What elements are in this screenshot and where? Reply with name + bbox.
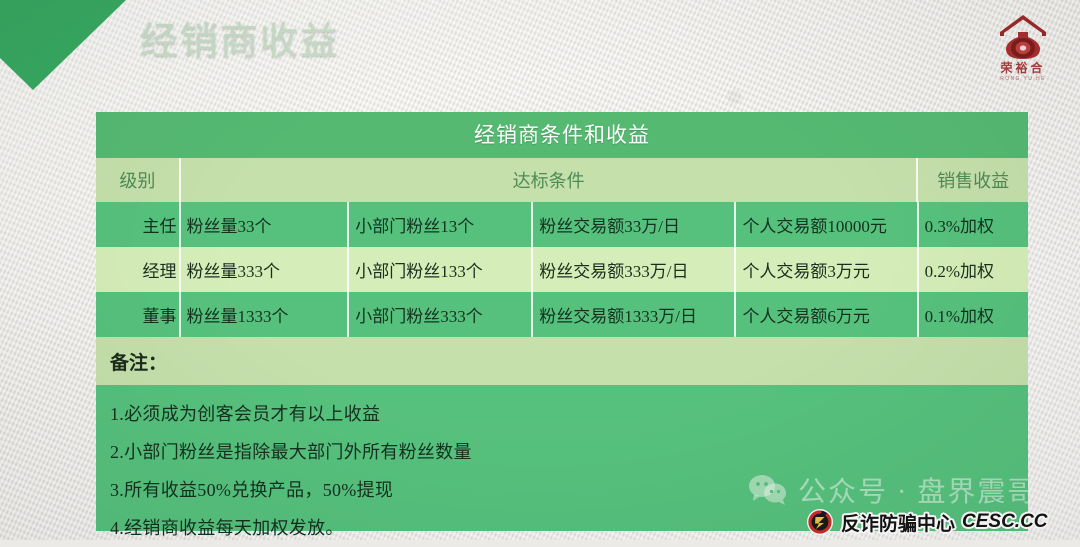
column-header-revenue: 销售收益: [918, 158, 1028, 202]
cell-level: 经理: [96, 247, 181, 292]
page-title: 经销商收益: [140, 20, 340, 64]
table-caption: 经销商条件和收益: [96, 112, 1028, 158]
house-vase-logo-icon: [996, 12, 1050, 62]
cell-fan-volume: 粉丝交易额333万/日: [533, 247, 736, 292]
notes-label: 备注：: [96, 337, 1028, 385]
cell-revenue: 0.3%加权: [919, 202, 1028, 247]
brand-name-en: RONG YU HE: [984, 75, 1062, 83]
cell-fan-volume: 粉丝交易额33万/日: [533, 202, 736, 247]
cell-sub-fans: 小部门粉丝13个: [349, 202, 533, 247]
column-header-conditions: 达标条件: [181, 158, 919, 202]
cell-fans: 粉丝量33个: [181, 202, 350, 247]
note-item: 1.必须成为创客会员才有以上收益: [110, 395, 1028, 433]
note-item: 2.小部门粉丝是指除最大部门外所有粉丝数量: [110, 433, 1028, 471]
table-row: 主任 粉丝量33个 小部门粉丝13个 粉丝交易额33万/日 个人交易额10000…: [96, 202, 1028, 247]
cell-level: 董事: [96, 292, 181, 337]
dealer-benefits-table: 经销商条件和收益 级别 达标条件 销售收益 主任 粉丝量33个 小部门粉丝13个…: [96, 112, 1028, 531]
table-row: 经理 粉丝量333个 小部门粉丝133个 粉丝交易额333万/日 个人交易额3万…: [96, 247, 1028, 292]
column-header-level: 级别: [96, 158, 181, 202]
table-header-row: 级别 达标条件 销售收益: [96, 158, 1028, 202]
cell-personal-volume: 个人交易额10000元: [736, 202, 918, 247]
brand-name-cn: 荣裕合: [984, 62, 1062, 75]
cell-sub-fans: 小部门粉丝133个: [349, 247, 533, 292]
corner-chevron-decoration: [0, 0, 132, 92]
antifraud-site: CESC.CC: [962, 511, 1048, 533]
cell-personal-volume: 个人交易额6万元: [736, 292, 918, 337]
antifraud-text: 反诈防骗中心: [841, 509, 955, 536]
cell-revenue: 0.2%加权: [919, 247, 1028, 292]
antifraud-badge: 反诈防骗中心 CESC.CC: [806, 508, 1048, 536]
cell-personal-volume: 个人交易额3万元: [736, 247, 918, 292]
cell-revenue: 0.1%加权: [919, 292, 1028, 337]
antifraud-shield-icon: [806, 508, 834, 536]
cell-fans: 粉丝量1333个: [181, 292, 350, 337]
cell-sub-fans: 小部门粉丝333个: [349, 292, 533, 337]
cell-fans: 粉丝量333个: [181, 247, 350, 292]
table-row: 董事 粉丝量1333个 小部门粉丝333个 粉丝交易额1333万/日 个人交易额…: [96, 292, 1028, 337]
brand-logo: 荣裕合 RONG YU HE: [984, 12, 1062, 92]
cell-fan-volume: 粉丝交易额1333万/日: [533, 292, 736, 337]
note-item: 3.所有收益50%兑换产品，50%提现: [110, 471, 1028, 509]
cell-level: 主任: [96, 202, 181, 247]
